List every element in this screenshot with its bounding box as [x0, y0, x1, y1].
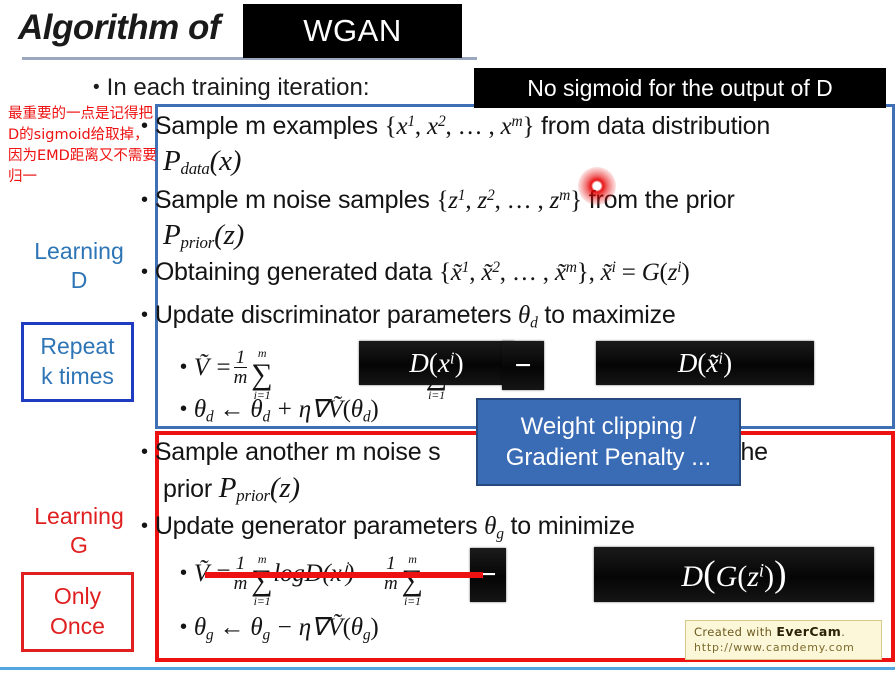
box-repeat-k-times: Repeat k times	[21, 322, 134, 402]
top-bullet-label: In each training iteration:	[107, 74, 370, 101]
d-step2-pprior: Pprior(z)	[163, 219, 244, 253]
callout-no-sigmoid: No sigmoid for the output of D	[474, 68, 886, 108]
cover-box-d-of-xtilde: D(x̃i)	[596, 341, 814, 385]
watermark-brand: EverCam	[776, 624, 841, 639]
watermark-prefix: Created with	[694, 625, 776, 639]
d-step2-set: {z1, z2, … , zm}	[436, 187, 582, 214]
bullet-dot-icon: •	[141, 261, 148, 283]
bullet-dot-icon: •	[141, 304, 148, 326]
label-learning-d: Learning D	[18, 237, 140, 295]
bottom-accent-rule	[0, 667, 895, 670]
box-once-line2: Once	[24, 611, 131, 641]
d-step2-text-a: Sample m noise samples	[155, 186, 430, 214]
summation-icon: ∑mi=1	[251, 564, 272, 598]
label-learning-d-line1: Learning	[18, 237, 140, 266]
d-step1-set: {x1, x2, … , xm}	[385, 113, 535, 140]
callout-weight-clipping-line2: Gradient Penalty ...	[506, 442, 711, 473]
d-step3-text: Obtaining generated data	[155, 258, 432, 286]
callout-weight-clipping: Weight clipping / Gradient Penalty ...	[476, 398, 741, 486]
d-step4-line: •Update discriminator parameters θd to m…	[141, 301, 676, 332]
cover-box-d-of-xtilde-label: D(x̃i)	[678, 348, 732, 379]
d-step2-line: •Sample m noise samples {z1, z2, … , zm}…	[141, 186, 735, 215]
label-learning-g-line1: Learning	[18, 502, 140, 531]
bullet-dot-icon: •	[180, 398, 187, 420]
d-step1-line: •Sample m examples {x1, x2, … , xm} from…	[141, 112, 770, 141]
cover-box-d-of-xi-label: D(xi)	[409, 348, 463, 379]
cover-box-d-of-g-of-z: D(G(zi))	[594, 547, 874, 602]
box-once-line1: Only	[24, 581, 131, 611]
d-theta-update-math: θd ← θd + η∇Ṽ(θd)	[194, 396, 379, 423]
g-theta-update-math: θg ← θg − η∇Ṽ(θg)	[194, 614, 379, 641]
g-step1-text-a: Sample another m noise s	[155, 438, 441, 466]
g-step2-text: Update generator parameters θg to minimi…	[155, 512, 635, 540]
watermark-line1: Created with EverCam.	[694, 624, 881, 639]
cover-box-minus-d-label: −	[514, 349, 531, 383]
summation-icon: ∑mi=1	[251, 358, 272, 392]
top-bullet-line: •In each training iteration:	[93, 74, 369, 102]
d-step1-text-b: from data distribution	[541, 112, 770, 140]
box-repeat-line2: k times	[24, 361, 131, 391]
cover-box-d-of-xi: D(xi)	[359, 341, 514, 385]
box-only-once: Only Once	[21, 572, 134, 652]
watermark-suffix: .	[841, 625, 845, 639]
d-step1-text-a: Sample m examples	[155, 112, 378, 140]
bullet-dot-icon: •	[180, 616, 187, 638]
slide-canvas: Algorithm of GAN WGAN •In each training …	[0, 0, 895, 673]
watermark-url: http://www.camdemy.com	[694, 641, 881, 654]
d-step3-line: •Obtaining generated data {x̃1, x̃2, … ,…	[141, 258, 689, 287]
d-step1-pdata-math: Pdata(x)	[163, 145, 241, 177]
bullet-dot-icon: •	[141, 441, 148, 463]
g-step1-prior-text: prior	[163, 475, 219, 503]
bullet-dot-icon: •	[141, 515, 148, 537]
d-step1-pdata: Pdata(x)	[163, 145, 241, 179]
bullet-dot-icon: •	[141, 189, 148, 211]
d-step2-pprior-math: Pprior(z)	[163, 219, 244, 251]
page-title-text: Algorithm of	[18, 8, 220, 47]
title-cover-label: WGAN	[303, 13, 401, 49]
label-learning-g: Learning G	[18, 502, 140, 560]
fraction-1-over-m: 1m	[234, 348, 248, 388]
bullet-dot-icon: •	[93, 77, 100, 98]
g-theta-update: •θg ← θg − η∇Ṽ(θg)	[180, 612, 379, 644]
d-step4-text: Update discriminator parameters θd to ma…	[155, 301, 676, 329]
bullet-dot-icon: •	[180, 356, 187, 378]
summation-icon: ∑mi=1	[401, 564, 422, 598]
callout-no-sigmoid-label: No sigmoid for the output of D	[527, 75, 833, 102]
d-step2-text-b: from the prior	[589, 186, 735, 214]
cover-box-minus-d: −	[502, 341, 544, 390]
g-step2-line: •Update generator parameters θg to minim…	[141, 512, 635, 543]
g-step1-prior: prior Pprior(z)	[163, 472, 300, 506]
label-learning-g-line2: G	[18, 531, 140, 560]
g-step1-prior-math: Pprior(z)	[219, 472, 300, 504]
annotation-chinese: 最重要的一点是记得把D的sigmoid给取掉，因为EMD距离又不需要归一	[8, 104, 158, 188]
cover-box-d-of-g-of-z-label: D(G(zi))	[681, 553, 786, 596]
bullet-dot-icon: •	[180, 562, 187, 584]
title-cover-badge-wgan: WGAN	[243, 4, 462, 58]
evercam-watermark: Created with EverCam. http://www.camdemy…	[685, 620, 882, 660]
d-formula-v-lhs: Ṽ =	[194, 354, 232, 381]
callout-weight-clipping-line1: Weight clipping /	[521, 411, 697, 442]
label-learning-d-line2: D	[18, 266, 140, 295]
d-theta-update: •θd ← θd + η∇Ṽ(θd)	[180, 394, 379, 426]
d-step3-math: {x̃1, x̃2, … , x̃m}, x̃i = G(zi)	[439, 259, 690, 286]
red-strikethrough-mark	[205, 572, 483, 578]
box-repeat-line1: Repeat	[24, 331, 131, 361]
